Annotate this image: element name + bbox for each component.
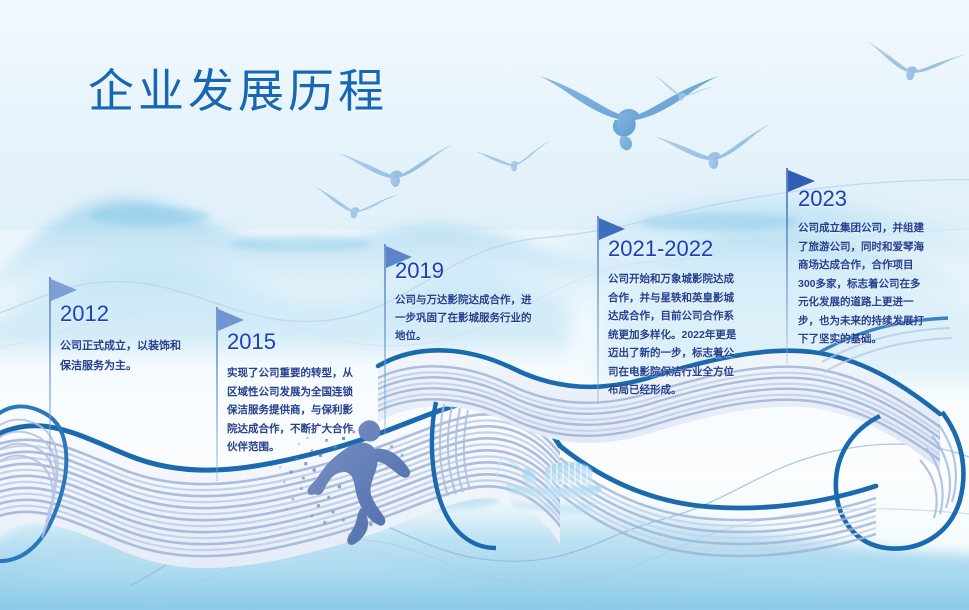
milestone-2021-2022[interactable]: 2021-2022 公司开始和万象城影院达成合作，并与星轶和英皇影城达成合作，目…	[597, 216, 763, 406]
flag-pole	[49, 277, 51, 465]
seagull-icon	[337, 145, 455, 191]
milestone-2012[interactable]: 2012 公司正式成立，以装饰和保洁服务为主。	[49, 277, 199, 467]
milestone-2023[interactable]: 2023 公司成立集团公司，并组建了旅游公司，同时和爱琴海商场达成合作，合作项目…	[786, 168, 956, 358]
milestone-year: 2012	[60, 301, 109, 327]
flag-pole	[786, 168, 788, 364]
milestone-description: 公司开始和万象城影院达成合作，并与星轶和英皇影城达成合作，目前公司合作系统更加多…	[608, 270, 738, 400]
milestone-description: 公司成立集团公司，并组建了旅游公司，同时和爱琴海商场达成合作，合作项目300多家…	[798, 219, 930, 349]
flag-pole	[597, 216, 599, 404]
page-title: 企业发展历程	[88, 62, 388, 120]
seagull-icon	[539, 76, 719, 150]
seagull-icon	[312, 187, 400, 223]
infographic-canvas: 2012 公司正式成立，以装饰和保洁服务为主。 2015 实现了公司重要的转型，…	[0, 0, 969, 610]
flag-pole	[216, 307, 218, 481]
milestone-year: 2023	[798, 186, 847, 212]
milestone-2019[interactable]: 2019 公司与万达影院达成合作，进一步巩固了在影城服务行业的地位。	[384, 244, 544, 436]
seagull-icon	[474, 141, 554, 177]
seagull-icon	[653, 124, 775, 175]
milestone-description: 实现了公司重要的转型，从区域性公司发展为全国连锁保洁服务提供商，与保利影院达成合…	[227, 364, 355, 457]
milestone-description: 公司正式成立，以装饰和保洁服务为主。	[60, 336, 184, 376]
milestone-year: 2015	[227, 329, 276, 355]
flag-pole	[384, 244, 386, 434]
milestone-2015[interactable]: 2015 实现了公司重要的转型，从区域性公司发展为全国连锁保洁服务提供商，与保利…	[216, 307, 374, 483]
flag-pennant-icon	[51, 279, 77, 301]
milestone-description: 公司与万达影院达成合作，进一步巩固了在影城服务行业的地位。	[395, 291, 535, 345]
milestone-year: 2019	[395, 258, 444, 284]
milestone-year: 2021-2022	[608, 236, 713, 262]
flag-pennant-icon	[218, 309, 244, 331]
seagull-icon	[651, 76, 715, 106]
seagull-icon	[862, 41, 965, 87]
